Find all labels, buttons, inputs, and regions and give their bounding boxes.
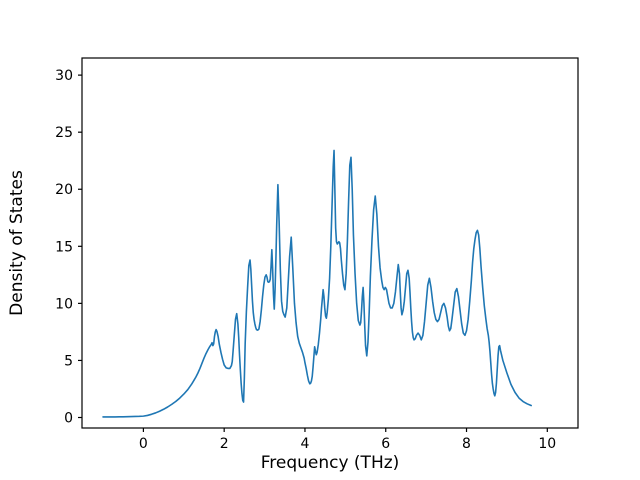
y-tick-label: 0 xyxy=(64,411,73,427)
x-tick-label: 6 xyxy=(381,436,390,452)
x-tick-label: 0 xyxy=(139,436,148,452)
x-tick-label: 2 xyxy=(220,436,229,452)
chart-plot: 0246810 051015202530 Frequency (THz) Den… xyxy=(0,0,640,480)
x-axis-label: Frequency (THz) xyxy=(261,453,400,473)
axes-background xyxy=(82,58,578,428)
x-tick-label: 4 xyxy=(300,436,309,452)
x-tick-label: 10 xyxy=(538,436,556,452)
y-tick-label: 20 xyxy=(55,182,73,198)
y-tick-label: 25 xyxy=(55,125,73,141)
y-tick-label: 30 xyxy=(55,68,73,84)
x-tick-label: 8 xyxy=(462,436,471,452)
y-tick-label: 5 xyxy=(64,353,73,369)
figure-canvas: 0246810 051015202530 Frequency (THz) Den… xyxy=(0,0,640,480)
y-tick-label: 10 xyxy=(55,296,73,312)
y-axis-ticks: 051015202530 xyxy=(55,68,82,426)
x-axis-ticks: 0246810 xyxy=(139,428,556,452)
y-tick-label: 15 xyxy=(55,239,73,255)
y-axis-label: Density of States xyxy=(7,170,27,316)
